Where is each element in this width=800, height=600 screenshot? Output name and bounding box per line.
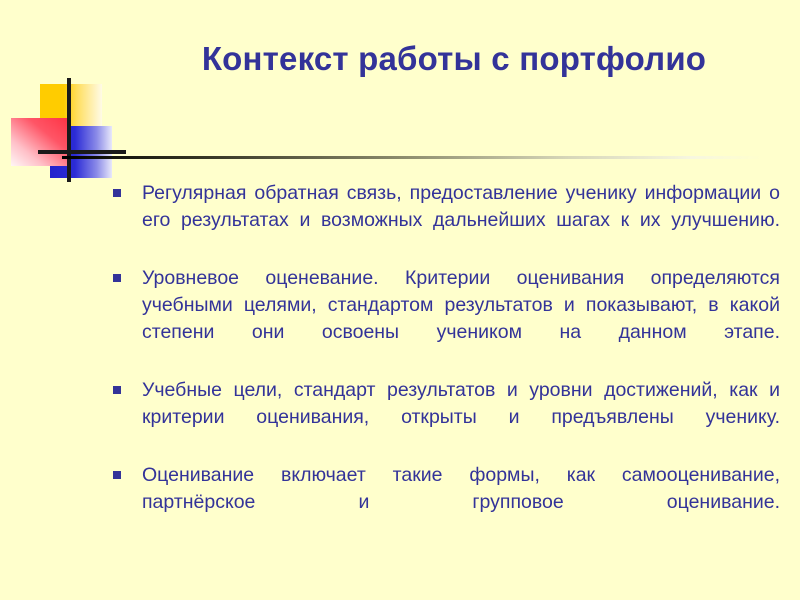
decorative-logo (8, 78, 126, 182)
bullet-square-icon (113, 386, 121, 394)
bullet-square-icon (113, 274, 121, 282)
list-item-text: Учебные цели, стандарт результатов и уро… (142, 377, 780, 458)
bullet-list: Регулярная обратная связь, предоставлени… (112, 180, 780, 543)
title-divider (62, 156, 762, 159)
list-item-text: Уровневое оценевание. Критерии оценивани… (142, 265, 780, 373)
vertical-rule-icon (67, 78, 71, 182)
bullet-square-icon (113, 471, 121, 479)
list-item: Учебные цели, стандарт результатов и уро… (112, 377, 780, 458)
list-item: Уровневое оценевание. Критерии оценивани… (112, 265, 780, 373)
list-item: Оценивание включает такие формы, как сам… (112, 462, 780, 543)
slide-title: Контекст работы с портфолио (130, 38, 778, 79)
horizontal-rule-icon (38, 150, 126, 154)
slide: Контекст работы с портфолио Регулярная о… (0, 0, 800, 600)
list-item-text: Оценивание включает такие формы, как сам… (142, 462, 780, 543)
red-square-icon (11, 118, 69, 166)
list-item: Регулярная обратная связь, предоставлени… (112, 180, 780, 261)
list-item-text: Регулярная обратная связь, предоставлени… (142, 180, 780, 261)
bullet-square-icon (113, 189, 121, 197)
